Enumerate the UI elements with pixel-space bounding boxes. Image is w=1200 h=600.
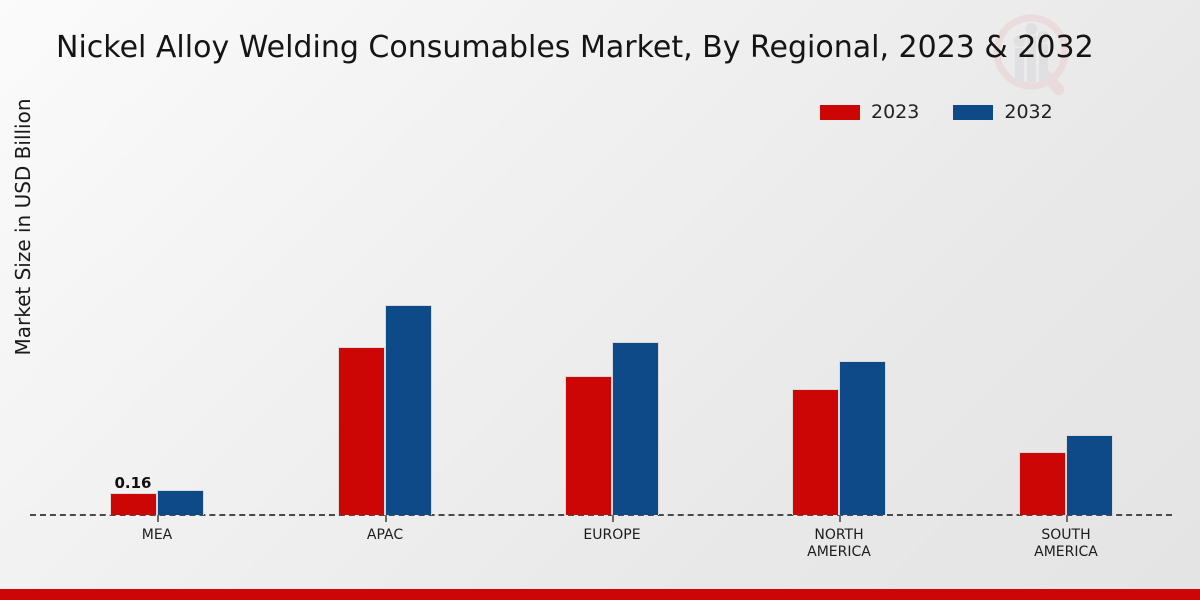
bar-apac-2032[interactable] xyxy=(385,305,432,515)
tick-north-america xyxy=(839,515,841,522)
chart-container: Nickel Alloy Welding Consumables Market,… xyxy=(0,0,1200,600)
bar-mea-2032[interactable] xyxy=(157,490,204,515)
bar-mea-2023[interactable] xyxy=(110,493,157,515)
tick-south-america xyxy=(1066,515,1068,522)
bar-europe-2023[interactable] xyxy=(565,376,612,515)
bar-europe-2032[interactable] xyxy=(612,342,659,515)
bottom-accent-strip xyxy=(0,589,1200,600)
category-label-europe: EUROPE xyxy=(527,527,697,544)
bar-apac-2023[interactable] xyxy=(338,347,385,515)
tick-mea xyxy=(157,515,159,522)
tick-europe xyxy=(612,515,614,522)
category-label-apac: APAC xyxy=(300,527,470,544)
bar-south-america-2032[interactable] xyxy=(1066,435,1113,515)
plot-area: 0.16 MEA APAC EUROPE NORTH AMERICA SOUTH… xyxy=(0,0,1200,600)
category-label-north-america: NORTH AMERICA xyxy=(754,527,924,561)
category-label-south-america: SOUTH AMERICA xyxy=(981,527,1151,561)
category-label-mea: MEA xyxy=(72,527,242,544)
bar-north-america-2032[interactable] xyxy=(839,361,886,515)
bar-south-america-2023[interactable] xyxy=(1019,452,1066,515)
bar-north-america-2023[interactable] xyxy=(792,389,839,515)
tick-apac xyxy=(385,515,387,522)
